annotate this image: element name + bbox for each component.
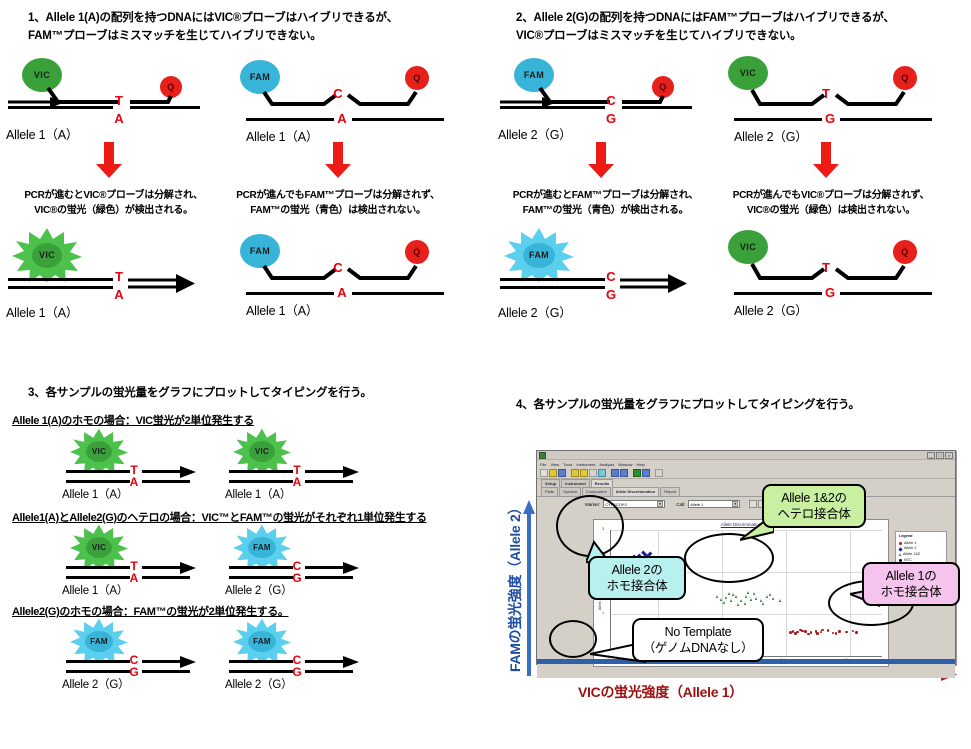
menu-instrument[interactable]: Instrument [576,462,595,467]
subtab-plate[interactable]: Plate [541,487,558,496]
diagram-s3-r3-right: FAM C G Allele 2（G） [225,618,395,688]
section3-sub1: Allele 1(A)のホモの場合：VIC蛍光が2単位発生する [12,412,254,428]
vic-label: VIC [249,441,275,462]
base-template-g: G [824,286,836,299]
scatter-point-allele-1[interactable] [845,631,848,634]
base-template-a: A [336,286,348,299]
dna-strand-top-right [130,106,200,109]
base-bottom-a: A [113,288,125,301]
scatter-point-allele-1[interactable] [807,633,810,636]
base-probe-t: T [820,261,832,274]
base-probe-t: T [820,87,832,100]
scatter-point-allele-1[interactable] [852,630,855,633]
fam-label: FAM [85,631,113,652]
scatter-point-allele-1-2[interactable] [725,596,727,599]
dna-strand-left [734,292,822,295]
scatter-point-allele-1-2[interactable] [716,595,718,598]
down-arrow-icon [325,142,351,183]
open-button[interactable] [549,469,557,477]
chevron-down-icon[interactable]: ▼ [732,501,738,507]
scatter-point-allele-1-2[interactable] [755,597,757,600]
vic-label: VIC [86,537,112,558]
y-axis-arrow-icon [522,500,536,676]
legend-marker-allele2-icon [898,547,902,551]
base-bottom-g: G [128,666,140,678]
probe-backbone [240,226,460,310]
minimize-button[interactable]: _ [927,452,935,459]
base-bottom-g: G [291,666,303,678]
save-button[interactable] [558,469,566,477]
allele-label-2: Allele 2（G） [225,676,292,692]
base-bottom-g: G [291,572,303,584]
probe-backbone [728,52,948,136]
diagram-s3-r2-left: VIC T A Allele 1（A） [62,524,232,594]
scatter-point-allele-1[interactable] [794,632,797,635]
base-bottom-a: A [113,112,125,125]
probe-backbone [240,52,460,136]
diagram-s3-r3-left: FAM C G Allele 2（G） [62,618,232,688]
scatter-point-allele-1-2[interactable] [750,598,752,601]
down-arrow-icon [813,142,839,183]
call-label: Call: [676,502,685,507]
allele-label-2: Allele 2（G） [62,676,129,692]
diagram-s3-r1-left: VIC T A Allele 1（A） [62,428,232,498]
allele-label-2: Allele 2（G） [498,124,572,143]
chevron-down-icon[interactable]: ▼ [657,501,663,507]
base-probe-c: C [332,261,344,274]
allele-label-2: Allele 2（G） [734,300,808,319]
scatter-point-allele-1[interactable] [832,632,835,635]
scatter-point-allele-1-2[interactable] [753,592,755,595]
allele-label-1: Allele 1（A） [246,300,318,319]
caption-p1-right: PCRが進んでもFAM™プローブは分解されず、 FAM™の蛍光（青色）は検出され… [222,188,454,218]
dna-strand-left [246,118,334,121]
select-tool-button[interactable] [749,500,757,508]
subtab-allele-discrimination[interactable]: Allele Discrimination [612,487,660,496]
scatter-point-allele-1-2[interactable] [769,593,771,596]
scatter-point-allele-1-2[interactable] [762,602,764,605]
menu-tools[interactable]: Tools [563,462,572,467]
scatter-point-allele-1-2[interactable] [723,601,725,604]
scatter-point-allele-1-2[interactable] [732,593,734,596]
base-bottom-g: G [605,288,617,301]
copy-button[interactable] [598,469,606,477]
legend-marker-allele12-icon [899,553,901,556]
stop-button[interactable] [642,469,650,477]
caption-p2-right: PCRが進んでもVIC®プローブは分解されず、 VIC®の蛍光（緑色）は検出され… [715,188,947,218]
dna-strand-right [352,118,444,121]
scatter-point-allele-1-2[interactable] [779,599,781,602]
allele-label-1: Allele 1（A） [225,486,291,502]
call-select[interactable]: Allele 1 ▼ [688,500,740,508]
scatter-point-allele-1-2[interactable] [766,595,768,598]
diagram-s3-r2-right: FAM C G Allele 2（G） [225,524,395,594]
maximize-button[interactable]: □ [936,452,944,459]
help-button[interactable] [655,469,663,477]
cut-button[interactable] [589,469,597,477]
probe-backbone [728,226,948,310]
dna-strand-top [8,106,113,109]
base-probe-c: C [332,87,344,100]
diagram-p1-top-left: VIC Q T A Allele 1（A） [0,58,240,136]
scatter-point-allele-1-2[interactable] [745,595,747,598]
vic-label: VIC [32,243,62,268]
dna-strand-right [840,118,932,121]
diagram-s3-r1-right: VIC T A Allele 1（A） [225,428,395,498]
callout-homo2: Allele 2の ホモ接合体 [588,556,686,600]
down-arrow-icon [96,142,122,183]
menu-file[interactable]: File [540,462,546,467]
scatter-point-allele-1[interactable] [789,631,792,634]
menu-bar[interactable]: File View Tools Instrument Analysis Wind… [537,460,955,468]
scatter-point-allele-1[interactable] [821,629,824,632]
allele-label-1: Allele 1（A） [6,124,78,143]
diagram-p1-bottom-left: VIC T A Allele 1（A） [0,228,240,308]
scatter-point-allele-1-2[interactable] [740,599,742,602]
caption-p2-left: PCRが進むとFAM™プローブは分解され、 FAM™の蛍光（青色）が検出される。 [498,188,713,218]
diagram-p1-bottom-right: FAM Q C A Allele 1（A） [240,226,460,310]
legend-title: Legend [899,534,943,540]
base-top-t: T [113,270,125,283]
menu-help[interactable]: Help [636,462,644,467]
dna-strand-top [500,106,605,109]
base-bottom-a: A [128,572,140,584]
base-bottom-g: G [605,112,617,125]
base-template-g: G [824,112,836,125]
fam-label: FAM [248,631,276,652]
step2-heading: 2、Allele 2(G)の配列を持つDNAにはFAM™プローブはハイブリできる… [516,10,895,46]
scatter-point-allele-1-2[interactable] [735,595,737,598]
scatter-point-allele-1[interactable] [838,630,841,633]
scatter-point-allele-1[interactable] [810,631,813,634]
analyze-button[interactable] [620,469,628,477]
fam-label: FAM [248,537,276,558]
print-preview-button[interactable] [580,469,588,477]
section3-sub2: Allele1(A)とAllele2(G)のヘテロの場合：VIC™とFAM™の蛍… [12,509,427,525]
allele-label-1: Allele 1（A） [62,582,128,598]
scatter-point-allele-1-2[interactable] [728,592,730,595]
section3-sub3: Allele2(G)のホモの場合：FAM™の蛍光が2単位発生する。 [12,603,288,619]
dna-strand-right [352,292,444,295]
subtab-spectra[interactable]: Spectra [559,487,581,496]
diagram-p2-bottom-left: FAM C G Allele 2（G） [492,228,732,308]
scatter-point-allele-1-2[interactable] [772,597,774,600]
allele-label-1: Allele 1（A） [6,302,78,321]
callout-hetero: Allele 1&2の ヘテロ接合体 [762,484,866,528]
window-titlebar[interactable]: _ □ × [537,451,955,460]
base-top-c: C [605,94,617,107]
allele-label-2: Allele 2（G） [734,126,808,145]
scatter-point-allele-1[interactable] [820,631,823,634]
dna-strand-left [734,118,822,121]
scatter-point-allele-1[interactable] [799,629,802,632]
scatter-point-allele-1-2[interactable] [747,591,749,594]
step3-heading: 3、各サンプルの蛍光量をグラフにプロットしてタイピングを行う。 [28,385,372,403]
close-button[interactable]: × [945,452,953,459]
vic-label: VIC [86,441,112,462]
dna-strand-left [246,292,334,295]
allele-label-1: Allele 1（A） [62,486,128,502]
step4-heading: 4、各サンプルの蛍光量をグラフにプロットしてタイピングを行う。 [516,397,860,415]
menu-analysis[interactable]: Analysis [599,462,614,467]
diagram-p1-top-right: FAM Q C A Allele 1（A） [240,52,460,136]
scatter-point-allele-1[interactable] [835,632,838,635]
step1-heading: 1、Allele 1(A)の配列を持つDNAにはVIC®プローブはハイブリできる… [28,10,398,46]
legend-marker-allele1-icon [899,542,902,545]
menu-window[interactable]: Window [618,462,632,467]
base-top-c: C [605,270,617,283]
dna-strand-right [840,292,932,295]
scatter-point-allele-1-2[interactable] [730,599,732,602]
down-arrow-icon [588,142,614,183]
callout-homo1: Allele 1の ホモ接合体 [862,562,960,606]
app-icon [539,452,546,459]
diagram-p2-top-left: FAM Q C G Allele 2（G） [492,58,732,136]
scatter-point-allele-1-2[interactable] [744,602,746,605]
base-bottom-a: A [291,476,303,488]
diagram-p2-top-right: VIC Q T G Allele 2（G） [728,52,948,136]
caption-p1-left: PCRが進むとVIC®プローブは分解され、 VIC®の蛍光（緑色）が検出される。 [6,188,221,218]
menu-view[interactable]: View [550,462,559,467]
base-top-t: T [113,94,125,107]
base-template-a: A [336,112,348,125]
new-button[interactable] [540,469,548,477]
base-bottom-a: A [128,476,140,488]
print-button[interactable] [571,469,579,477]
allele-label-2: Allele 2（G） [498,302,572,321]
subtab-report[interactable]: Report [660,487,680,496]
scatter-point-allele-1[interactable] [855,631,858,634]
fam-label: FAM [523,243,555,268]
plate-button[interactable] [611,469,619,477]
toolbar[interactable] [537,468,955,479]
scatter-point-allele-1-2[interactable] [737,603,739,606]
scatter-point-allele-1-2[interactable] [720,598,722,601]
scatter-point-allele-1[interactable] [827,629,830,632]
run-button[interactable] [633,469,641,477]
allele-label-1: Allele 1（A） [246,126,318,145]
allele-label-2: Allele 2（G） [225,582,292,598]
scatter-point-allele-1[interactable] [816,632,819,635]
x-axis-title: VICの蛍光強度（Allele 1） [578,682,743,702]
callout-ntc: No Template （ゲノムDNAなし） [632,618,764,662]
dna-strand-top-right [622,106,692,109]
call-value: Allele 1 [690,502,703,507]
diagram-p2-bottom-right: VIC Q T G Allele 2（G） [728,226,948,310]
